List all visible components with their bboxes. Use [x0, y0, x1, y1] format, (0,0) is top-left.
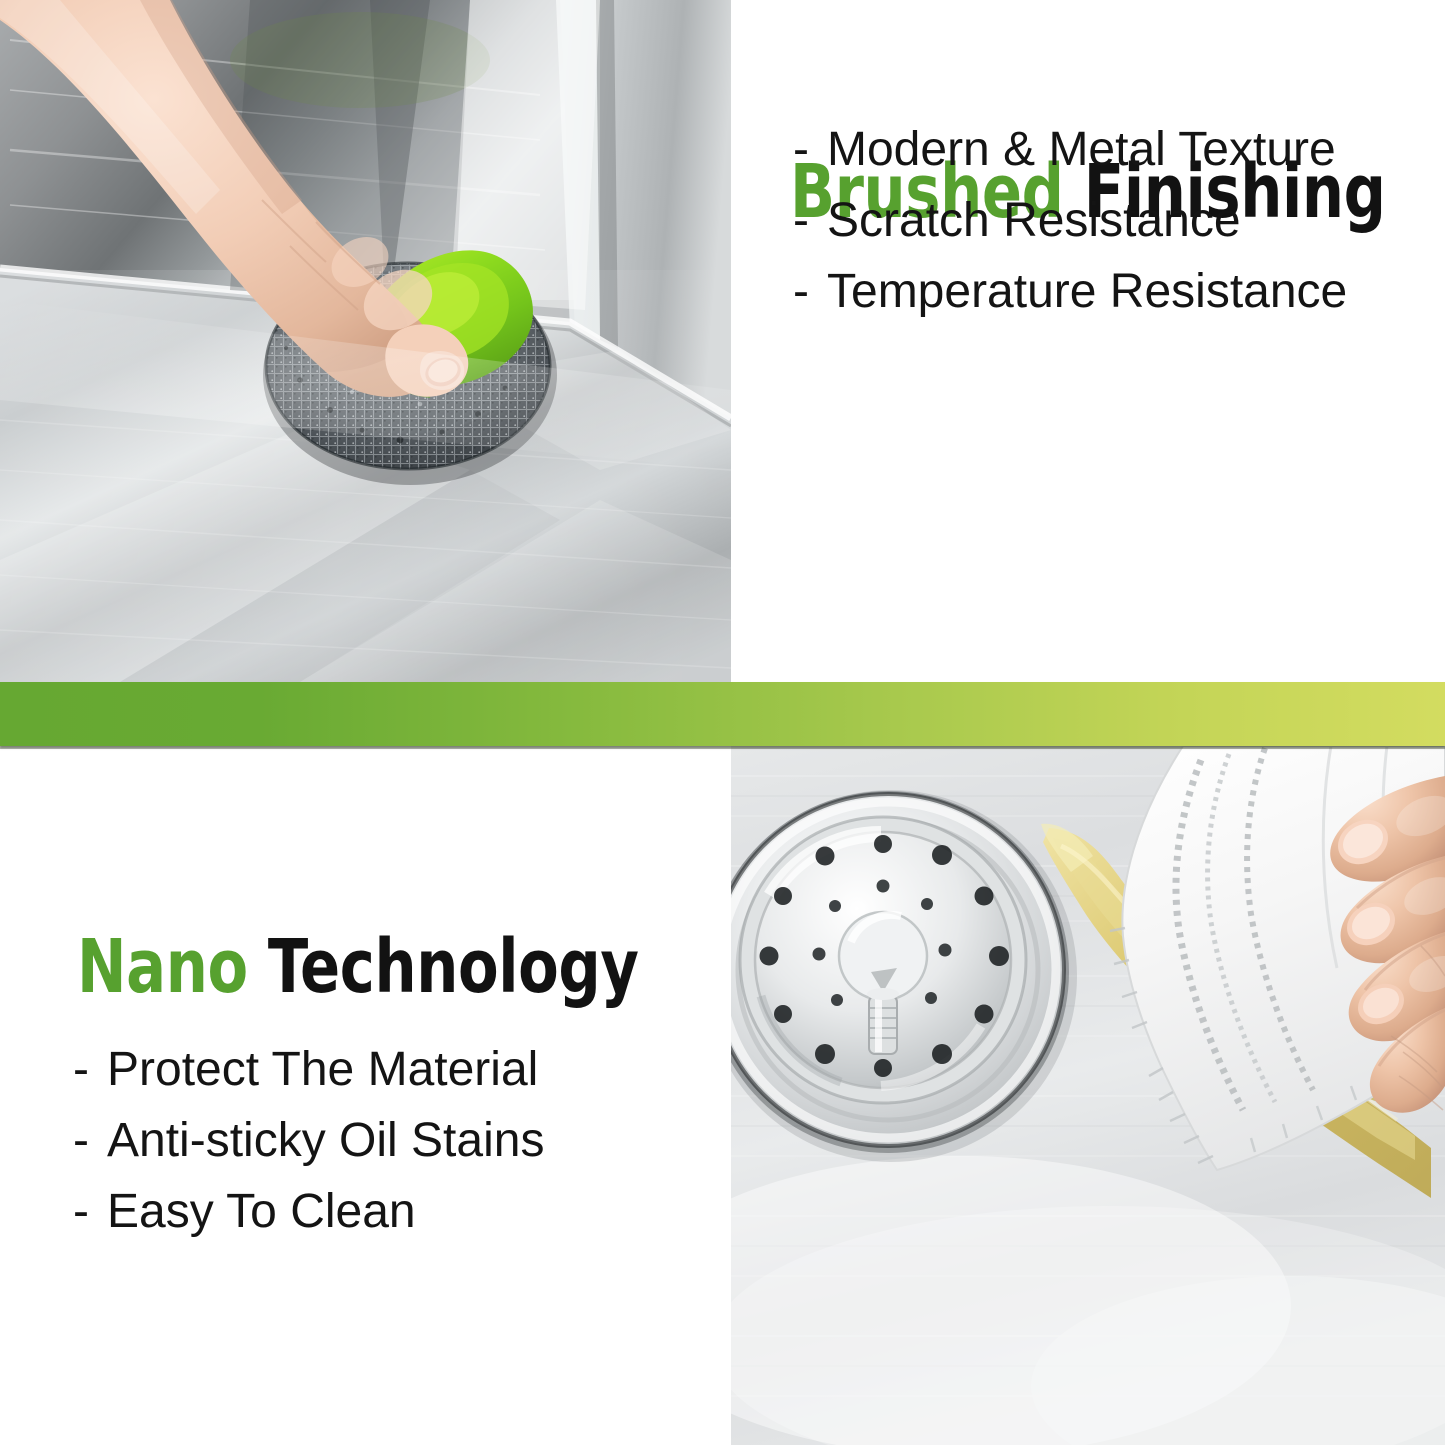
list-item: -Scratch Resistance	[793, 197, 1347, 245]
list-item-label: Modern & Metal Texture	[827, 123, 1336, 176]
panel-nano-technology: Nano Technology -Protect The Material -A…	[0, 746, 731, 1445]
panel-brushed-finishing: Brushed Finishing -Modern & Metal Textur…	[731, 0, 1445, 682]
heading-green-word: Nano	[77, 924, 248, 1010]
list-item-label: Temperature Resistance	[827, 265, 1347, 318]
feature-list-nano-technology: -Protect The Material -Anti-sticky Oil S…	[73, 1046, 544, 1259]
list-item-label: Protect The Material	[107, 1043, 538, 1096]
product-infographic: Brushed Finishing -Modern & Metal Textur…	[0, 0, 1445, 1445]
photo-hand-scrubbing-sink-corner	[0, 0, 731, 682]
bullet-dash: -	[73, 1117, 107, 1165]
sink-corner-scene-illustration	[0, 0, 731, 682]
list-item: -Modern & Metal Texture	[793, 126, 1347, 174]
green-divider-bar	[0, 682, 1445, 746]
list-item-label: Scratch Resistance	[827, 194, 1241, 247]
list-item-label: Anti-sticky Oil Stains	[107, 1114, 544, 1167]
heading-black-word: Technology	[268, 924, 639, 1010]
list-item: -Protect The Material	[73, 1046, 544, 1094]
bullet-dash: -	[73, 1188, 107, 1236]
bullet-dash: -	[793, 268, 827, 316]
list-item: -Easy To Clean	[73, 1188, 544, 1236]
heading-nano-technology: Nano Technology	[77, 930, 639, 1004]
list-item-label: Easy To Clean	[107, 1185, 416, 1238]
list-item: -Anti-sticky Oil Stains	[73, 1117, 544, 1165]
photo-hand-wiping-oil-near-drain	[731, 746, 1445, 1445]
sink-drain-wipe-scene-illustration	[731, 746, 1445, 1445]
bullet-dash: -	[73, 1046, 107, 1094]
list-item: -Temperature Resistance	[793, 268, 1347, 316]
bullet-dash: -	[793, 126, 827, 174]
bullet-dash: -	[793, 197, 827, 245]
feature-list-brushed-finishing: -Modern & Metal Texture -Scratch Resista…	[793, 126, 1347, 339]
